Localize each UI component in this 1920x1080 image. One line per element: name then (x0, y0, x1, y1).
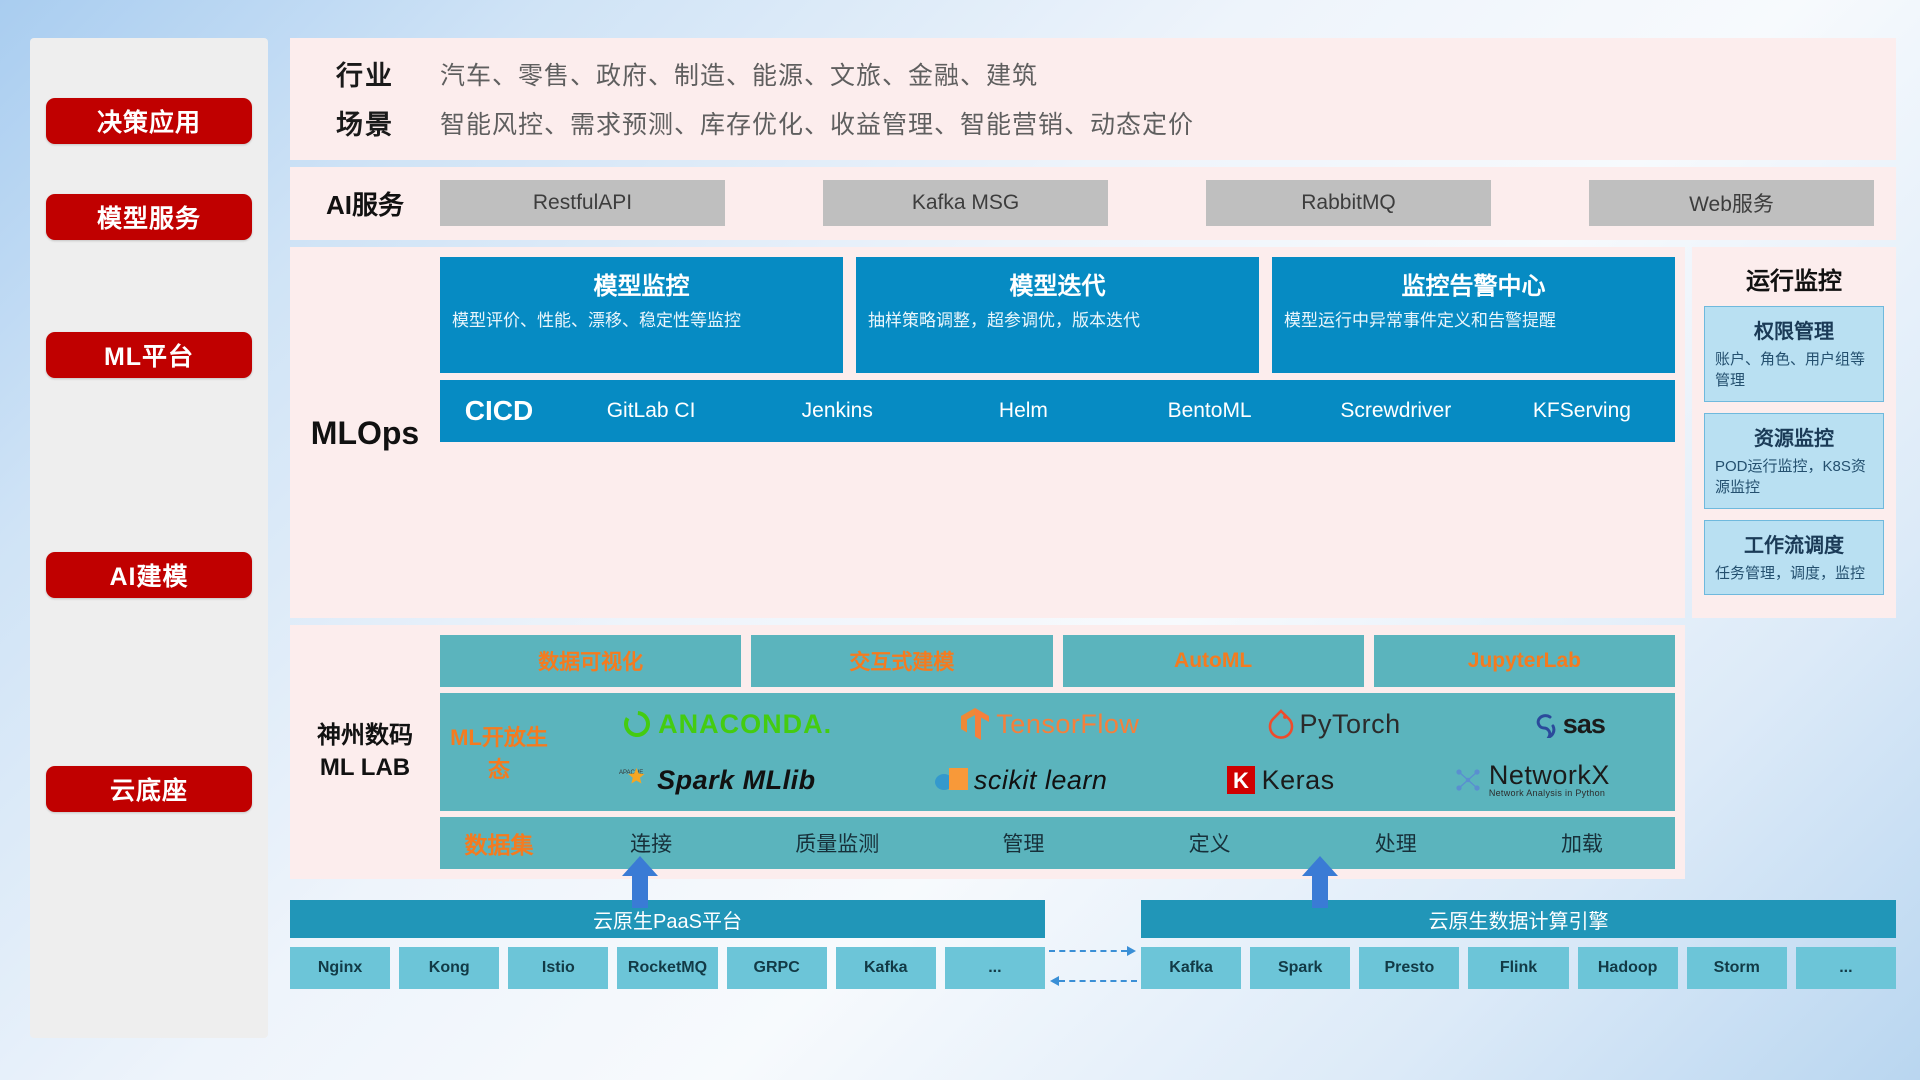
ai-service-chip-restfulapi[interactable]: RestfulAPI (440, 180, 725, 226)
mlops-band: MLOps 模型监控 模型评价、性能、漂移、稳定性等监控 模型迭代 抽样策略调整… (290, 247, 1896, 618)
cloud-base-band: 云原生PaaS平台 Nginx Kong Istio RocketMQ GRPC… (290, 900, 1896, 989)
keras-logo-text: Keras (1262, 765, 1335, 796)
sas-logo-text: sas (1563, 709, 1605, 740)
cloud-data-engine-column: 云原生数据计算引擎 Kafka Spark Presto Flink Hadoo… (1141, 900, 1896, 989)
left-layer-rail: 决策应用 模型服务 ML平台 AI建模 云底座 (30, 38, 268, 1038)
industry-values: 汽车、零售、政府、制造、能源、文旅、金融、建筑 (440, 56, 1038, 92)
ml-lab-body: 数据可视化 交互式建模 AutoML JupyterLab ML开放生态 (440, 635, 1685, 869)
cloud-data-engine-bar[interactable]: 云原生数据计算引擎 (1141, 900, 1896, 938)
dataset-item-quality[interactable]: 质量监测 (744, 828, 930, 858)
cloud-paas-chip-list: Nginx Kong Istio RocketMQ GRPC Kafka ... (290, 947, 1045, 989)
cloud-paas-column: 云原生PaaS平台 Nginx Kong Istio RocketMQ GRPC… (290, 900, 1045, 989)
monitor-card-resource[interactable]: 资源监控 POD运行监控，K8S资源监控 (1704, 413, 1884, 509)
lab-tab-jupyterlab[interactable]: JupyterLab (1374, 635, 1675, 687)
industry-label: 行业 (290, 54, 440, 93)
cloud-paas-bar[interactable]: 云原生PaaS平台 (290, 900, 1045, 938)
cloud-chip-grpc[interactable]: GRPC (727, 947, 827, 989)
cloud-chip-more-left[interactable]: ... (945, 947, 1045, 989)
card-title: 资源监控 (1715, 422, 1873, 451)
card-title: 模型迭代 (868, 266, 1247, 301)
cloud-chip-more-right[interactable]: ... (1796, 947, 1896, 989)
cloud-data-engine-chip-list: Kafka Spark Presto Flink Hadoop Storm ..… (1141, 947, 1896, 989)
spark-mllib-logo: APACHE Spark MLlib (617, 765, 816, 796)
upward-arrow-right-icon (1300, 856, 1340, 908)
card-desc: 抽样策略调整，超参调优，版本迭代 (868, 310, 1247, 333)
ml-lab-label-line1: 神州数码 (317, 720, 413, 752)
ml-lab-tab-list: 数据可视化 交互式建模 AutoML JupyterLab (440, 635, 1675, 687)
scenario-label: 场景 (290, 103, 440, 142)
mlops-card-model-monitor[interactable]: 模型监控 模型评价、性能、漂移、稳定性等监控 (440, 257, 843, 373)
dataset-item-list: 连接 质量监测 管理 定义 处理 加载 (558, 828, 1675, 858)
cloud-chip-kong[interactable]: Kong (399, 947, 499, 989)
arrow-right-icon (1127, 946, 1137, 956)
ml-lab-band: 神州数码 ML LAB 数据可视化 交互式建模 AutoML JupyterLa… (290, 625, 1896, 879)
ai-service-chip-rabbitmq[interactable]: RabbitMQ (1206, 180, 1491, 226)
rail-item-cloud-base[interactable]: 云底座 (46, 766, 252, 812)
dataset-item-load[interactable]: 加载 (1489, 828, 1675, 858)
ml-lab-right-spacer (1692, 625, 1896, 879)
dataset-item-process[interactable]: 处理 (1303, 828, 1489, 858)
mlops-body: 模型监控 模型评价、性能、漂移、稳定性等监控 模型迭代 抽样策略调整，超参调优，… (440, 257, 1685, 610)
rail-item-ai-modeling[interactable]: AI建模 (46, 552, 252, 598)
ai-service-chip-web[interactable]: Web服务 (1589, 180, 1874, 226)
cicd-item-screwdriver[interactable]: Screwdriver (1303, 380, 1489, 442)
card-title: 权限管理 (1715, 315, 1873, 344)
tensorflow-logo-text: TensorFlow (996, 709, 1139, 740)
cloud-chip-kafka-r[interactable]: Kafka (1141, 947, 1241, 989)
card-desc: 模型评价、性能、漂移、稳定性等监控 (452, 310, 831, 333)
ml-ecosystem-logo-row-1: ANACONDA. TensorFlow (558, 697, 1669, 751)
lab-tab-automl[interactable]: AutoML (1063, 635, 1364, 687)
scikit-learn-logo-text: scikit learn (974, 765, 1108, 796)
cicd-item-helm[interactable]: Helm (930, 380, 1116, 442)
dataset-item-define[interactable]: 定义 (1117, 828, 1303, 858)
scenario-values: 智能风控、需求预测、库存优化、收益管理、智能营销、动态定价 (440, 105, 1194, 141)
tensorflow-logo: TensorFlow (960, 707, 1139, 741)
mlops-card-list: 模型监控 模型评价、性能、漂移、稳定性等监控 模型迭代 抽样策略调整，超参调优，… (440, 257, 1675, 373)
ml-ecosystem-logo-row-2: APACHE Spark MLlib (558, 753, 1669, 807)
ml-ecosystem-label: ML开放生态 (440, 720, 558, 784)
card-desc: 模型运行中异常事件定义和告警提醒 (1284, 310, 1663, 333)
lab-tab-data-visualization[interactable]: 数据可视化 (440, 635, 741, 687)
cloud-chip-kafka[interactable]: Kafka (836, 947, 936, 989)
pytorch-logo: PyTorch (1268, 709, 1401, 740)
ai-service-chip-kafka-msg[interactable]: Kafka MSG (823, 180, 1108, 226)
runtime-monitor-panel: 运行监控 权限管理 账户、角色、用户组等管理 资源监控 POD运行监控，K8S资… (1692, 247, 1896, 618)
ai-service-chip-list: RestfulAPI Kafka MSG RabbitMQ Web服务 (440, 180, 1896, 226)
ml-ecosystem-logos: ANACONDA. TensorFlow (558, 697, 1675, 807)
cicd-row: CICD GitLab CI Jenkins Helm BentoML Scre… (440, 380, 1675, 442)
cloud-chip-presto[interactable]: Presto (1359, 947, 1459, 989)
cloud-chip-hadoop[interactable]: Hadoop (1578, 947, 1678, 989)
cicd-label: CICD (440, 380, 558, 442)
scenario-row: 场景 智能风控、需求预测、库存优化、收益管理、智能营销、动态定价 (290, 103, 1896, 142)
keras-logo: K Keras (1226, 765, 1335, 796)
card-title: 监控告警中心 (1284, 266, 1663, 301)
mlops-wrap: MLOps 模型监控 模型评价、性能、漂移、稳定性等监控 模型迭代 抽样策略调整… (290, 247, 1685, 618)
main-column: 行业 汽车、零售、政府、制造、能源、文旅、金融、建筑 场景 智能风控、需求预测、… (290, 38, 1896, 1038)
card-desc: 账户、角色、用户组等管理 (1715, 349, 1873, 391)
monitor-card-permission[interactable]: 权限管理 账户、角色、用户组等管理 (1704, 306, 1884, 402)
cicd-item-gitlab-ci[interactable]: GitLab CI (558, 380, 744, 442)
industry-row: 行业 汽车、零售、政府、制造、能源、文旅、金融、建筑 (290, 54, 1896, 93)
cicd-item-bentoml[interactable]: BentoML (1117, 380, 1303, 442)
cloud-chip-storm[interactable]: Storm (1687, 947, 1787, 989)
ml-lab-label: 神州数码 ML LAB (290, 635, 440, 869)
cloud-chip-spark[interactable]: Spark (1250, 947, 1350, 989)
networkx-logo: NetworkX Network Analysis in Python (1453, 762, 1610, 798)
ai-service-label: AI服务 (290, 185, 440, 222)
cloud-link-arrow-right (1049, 946, 1137, 956)
cicd-item-list: GitLab CI Jenkins Helm BentoML Screwdriv… (558, 380, 1675, 442)
networkx-logo-subtext: Network Analysis in Python (1489, 789, 1610, 798)
ai-service-band: AI服务 RestfulAPI Kafka MSG RabbitMQ Web服务 (290, 167, 1896, 240)
cloud-chip-flink[interactable]: Flink (1468, 947, 1568, 989)
upward-arrow-left-icon (620, 856, 660, 908)
rail-item-decision-app[interactable]: 决策应用 (46, 98, 252, 144)
card-title: 模型监控 (452, 266, 831, 301)
card-desc: 任务管理，调度，监控 (1715, 563, 1873, 584)
diagram-root: 决策应用 模型服务 ML平台 AI建模 云底座 行业 汽车、零售、政府、制造、能… (0, 0, 1920, 1080)
cloud-chip-nginx[interactable]: Nginx (290, 947, 390, 989)
spark-mllib-logo-text: Spark MLlib (657, 765, 816, 796)
cicd-item-jenkins[interactable]: Jenkins (744, 380, 930, 442)
dataset-label: 数据集 (440, 826, 558, 860)
anaconda-logo-text: ANACONDA. (658, 709, 832, 740)
mlops-card-model-iteration[interactable]: 模型迭代 抽样策略调整，超参调优，版本迭代 (856, 257, 1259, 373)
cloud-link-arrow-left (1049, 976, 1137, 986)
networkx-logo-text: NetworkX (1489, 762, 1610, 789)
monitor-card-workflow[interactable]: 工作流调度 任务管理，调度，监控 (1704, 520, 1884, 595)
cicd-item-kfserving[interactable]: KFServing (1489, 380, 1675, 442)
cloud-chip-rocketmq[interactable]: RocketMQ (617, 947, 717, 989)
card-title: 工作流调度 (1715, 529, 1873, 558)
arrow-left-icon (1049, 976, 1059, 986)
mlops-label: MLOps (290, 257, 440, 610)
ml-ecosystem-row: ML开放生态 ANACONDA. (440, 693, 1675, 811)
dataset-item-manage[interactable]: 管理 (930, 828, 1116, 858)
mlops-card-alert-center[interactable]: 监控告警中心 模型运行中异常事件定义和告警提醒 (1272, 257, 1675, 373)
sas-logo: sas (1529, 709, 1605, 740)
pytorch-logo-text: PyTorch (1300, 709, 1401, 740)
industry-scenario-band: 行业 汽车、零售、政府、制造、能源、文旅、金融、建筑 场景 智能风控、需求预测、… (290, 38, 1896, 160)
ml-lab-wrap: 神州数码 ML LAB 数据可视化 交互式建模 AutoML JupyterLa… (290, 625, 1685, 879)
runtime-monitor-title: 运行监控 (1704, 261, 1884, 296)
card-desc: POD运行监控，K8S资源监控 (1715, 456, 1873, 498)
scikit-learn-logo: scikit learn (934, 765, 1108, 796)
rail-item-ml-platform[interactable]: ML平台 (46, 332, 252, 378)
lab-tab-interactive-modeling[interactable]: 交互式建模 (751, 635, 1052, 687)
anaconda-logo: ANACONDA. (622, 709, 832, 740)
ml-lab-label-line2: ML LAB (320, 752, 410, 784)
svg-text:K: K (1233, 768, 1249, 793)
rail-item-model-service[interactable]: 模型服务 (46, 194, 252, 240)
cloud-link-gap (1045, 900, 1141, 989)
dataset-item-connect[interactable]: 连接 (558, 828, 744, 858)
cloud-chip-istio[interactable]: Istio (508, 947, 608, 989)
